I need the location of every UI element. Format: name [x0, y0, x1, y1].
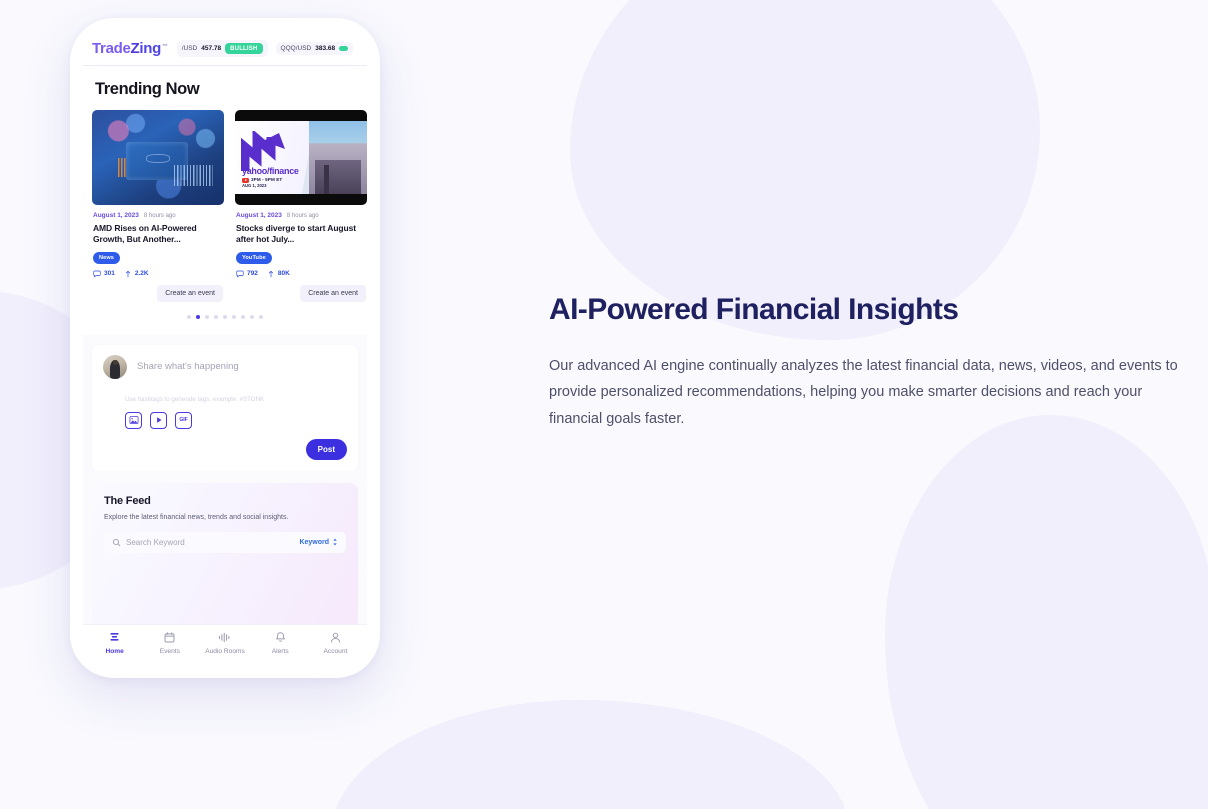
ticker-strip[interactable]: /USD 457.78 BULLISH QQQ/USD 383.68	[177, 40, 367, 57]
share-stat[interactable]: 80K	[267, 270, 290, 278]
ticker-price: 383.68	[315, 45, 335, 52]
share-count: 80K	[278, 270, 290, 277]
image-icon	[129, 415, 139, 425]
nav-label-account: Account	[324, 648, 348, 655]
tradezing-logo[interactable]: TradeZing™	[92, 40, 168, 57]
comment-icon	[93, 270, 101, 278]
trending-card[interactable]: yahoo/finance 3PM - 5PM ET AUG 1, 2023	[235, 110, 367, 302]
comment-count: 792	[247, 270, 258, 277]
card-headline[interactable]: AMD Rises on AI-Powered Growth, But Anot…	[92, 219, 224, 246]
yahoo-finance-time-row: 3PM - 5PM ET	[242, 178, 299, 183]
card-time-ago: 8 hours ago	[287, 213, 319, 219]
create-an-event-button[interactable]: Create an event	[300, 285, 366, 302]
search-icon	[112, 538, 121, 547]
phone-mockup: TradeZing™ /USD 457.78 BULLISH QQQ/USD 3…	[70, 18, 380, 678]
post-button[interactable]: Post	[306, 439, 347, 460]
nav-label-audio-rooms: Audio Rooms	[205, 648, 245, 655]
share-count: 2.2K	[135, 270, 149, 277]
yahoo-finance-date: AUG 1, 2023	[242, 184, 299, 188]
card-cta-row: Create an event	[92, 278, 224, 302]
card-thumbnail-yahoo-finance-video: yahoo/finance 3PM - 5PM ET AUG 1, 2023	[235, 110, 367, 205]
nav-item-events[interactable]: Events	[142, 631, 197, 655]
yahoo-finance-time: 3PM - 5PM ET	[251, 178, 282, 183]
carousel-dot[interactable]	[223, 315, 227, 319]
carousel-dot[interactable]	[259, 315, 263, 319]
person-icon	[329, 631, 342, 644]
card-thumbnail-chip-photo	[92, 110, 224, 205]
card-date: August 1, 2023	[93, 212, 139, 219]
gif-upload-button[interactable]: GIF	[175, 412, 192, 429]
feed-title: The Feed	[104, 495, 346, 507]
comment-stat[interactable]: 301	[93, 270, 115, 278]
feed-subtitle: Explore the latest financial news, trend…	[104, 507, 346, 521]
page-title: AI-Powered Financial Insights	[549, 292, 1197, 328]
app-scroll-body[interactable]: Trending Now August 1, 2023 8 hours ago	[83, 66, 367, 624]
card-meta: August 1, 2023 8 hours ago	[235, 205, 367, 219]
card-engagement: 301 2.2K	[92, 264, 224, 278]
ticker-symbol: /USD	[182, 45, 198, 52]
carousel-dot[interactable]	[250, 315, 254, 319]
create-an-event-button[interactable]: Create an event	[157, 285, 223, 302]
gif-label: GIF	[179, 417, 187, 423]
ticker-signal-badge-clipped	[339, 46, 348, 51]
compose-input[interactable]: Share what's happening	[137, 361, 239, 372]
yahoo-finance-artwork: yahoo/finance 3PM - 5PM ET AUG 1, 2023	[235, 121, 367, 193]
trending-title: Trending Now	[83, 66, 367, 110]
waveform-icon	[218, 631, 232, 644]
compose-hashtag-hint: Use hashtags to generate tags. example: …	[103, 379, 347, 403]
nav-item-alerts[interactable]: Alerts	[253, 631, 308, 655]
trending-card[interactable]: August 1, 2023 8 hours ago AMD Rises on …	[92, 110, 224, 302]
ticker-symbol: QQQ/USD	[281, 45, 312, 52]
comment-icon	[236, 270, 244, 278]
app-header: TradeZing™ /USD 457.78 BULLISH QQQ/USD 3…	[83, 32, 367, 66]
compose-card: Share what's happening Use hashtags to g…	[92, 345, 358, 471]
compose-header: Share what's happening	[103, 355, 347, 379]
page-description: Our advanced AI engine continually analy…	[549, 353, 1197, 432]
image-upload-button[interactable]	[125, 412, 142, 429]
capitol-building-photo	[309, 121, 367, 193]
card-cta-row: Create an event	[235, 278, 367, 302]
yahoo-finance-brand: yahoo/finance	[242, 167, 299, 176]
share-up-arrow-icon	[124, 270, 132, 278]
nav-item-home[interactable]: Home	[87, 631, 142, 655]
card-category-badge: YouTube	[236, 252, 272, 264]
bottom-navigation: Home Events Audio Rooms	[83, 624, 367, 664]
ticker-price: 457.78	[201, 45, 221, 52]
card-engagement: 792 80K	[235, 264, 367, 278]
background-blob-bottom-center	[330, 700, 850, 809]
phone-screen: TradeZing™ /USD 457.78 BULLISH QQQ/USD 3…	[83, 32, 367, 664]
home-icon	[108, 631, 121, 644]
calendar-icon	[163, 631, 176, 644]
share-up-arrow-icon	[267, 270, 275, 278]
video-play-icon	[154, 415, 164, 425]
yahoo-finance-label: yahoo/finance 3PM - 5PM ET AUG 1, 2023	[242, 167, 299, 189]
compose-actions: Post	[103, 429, 347, 460]
share-stat[interactable]: 2.2K	[124, 270, 149, 278]
nav-label-alerts: Alerts	[272, 648, 289, 655]
logo-text-part2: ing	[139, 40, 161, 57]
ticker-item[interactable]: /USD 457.78 BULLISH	[177, 40, 268, 57]
keyword-filter-dropdown[interactable]: Keyword	[299, 538, 338, 546]
carousel-dot[interactable]	[214, 315, 218, 319]
nav-item-audio-rooms[interactable]: Audio Rooms	[197, 631, 252, 655]
card-headline[interactable]: Stocks diverge to start August after hot…	[235, 219, 367, 246]
video-upload-button[interactable]	[150, 412, 167, 429]
keyword-filter-label: Keyword	[299, 539, 329, 546]
comment-count: 301	[104, 270, 115, 277]
card-date: August 1, 2023	[236, 212, 282, 219]
logo-text-z: Z	[131, 40, 140, 57]
carousel-dot[interactable]	[187, 315, 191, 319]
compose-toolbar: GIF	[103, 403, 347, 429]
avatar[interactable]	[103, 355, 127, 379]
nav-item-account[interactable]: Account	[308, 631, 363, 655]
trending-section: Trending Now August 1, 2023 8 hours ago	[83, 66, 367, 335]
logo-trademark: ™	[162, 44, 168, 50]
nav-label-home: Home	[105, 648, 123, 655]
bell-icon	[274, 631, 287, 644]
comment-stat[interactable]: 792	[236, 270, 258, 278]
feed-section: The Feed Explore the latest financial ne…	[83, 471, 367, 624]
card-meta: August 1, 2023 8 hours ago	[92, 205, 224, 219]
marketing-copy: AI-Powered Financial Insights Our advanc…	[549, 292, 1197, 432]
background-blob-top-right	[570, 0, 1040, 340]
card-time-ago: 8 hours ago	[144, 213, 176, 219]
ticker-item[interactable]: QQQ/USD 383.68	[276, 42, 354, 55]
carousel-dot[interactable]	[241, 315, 245, 319]
carousel-dot[interactable]	[205, 315, 209, 319]
phone-frame: TradeZing™ /USD 457.78 BULLISH QQQ/USD 3…	[70, 18, 380, 678]
youtube-icon	[242, 178, 249, 183]
search-input[interactable]: Search Keyword	[126, 538, 294, 547]
sort-chevron-icon	[332, 538, 338, 546]
carousel-dot-active[interactable]	[196, 315, 200, 319]
nav-label-events: Events	[160, 648, 180, 655]
card-category-badge: News	[93, 252, 120, 264]
carousel-dot[interactable]	[232, 315, 236, 319]
trending-card-list: August 1, 2023 8 hours ago AMD Rises on …	[83, 110, 367, 302]
logo-text-part1: Trade	[92, 40, 131, 57]
feed-card: The Feed Explore the latest financial ne…	[92, 483, 358, 624]
feed-search-bar[interactable]: Search Keyword Keyword	[104, 532, 346, 553]
compose-section: Share what's happening Use hashtags to g…	[83, 335, 367, 471]
ticker-signal-badge: BULLISH	[225, 43, 262, 54]
chip-traces-right	[174, 165, 214, 186]
carousel-pagination[interactable]	[83, 302, 367, 331]
